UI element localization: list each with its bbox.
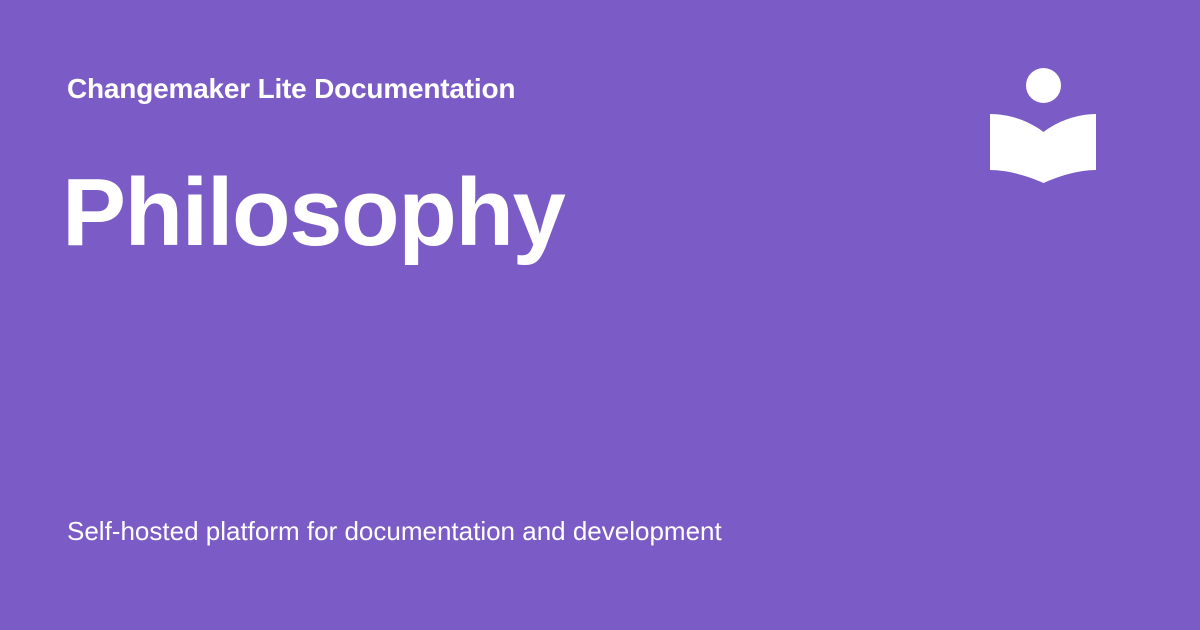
- site-title: Changemaker Lite Documentation: [67, 72, 515, 106]
- text-content-block: Changemaker Lite Documentation Philosoph…: [67, 0, 967, 630]
- open-book-reader-icon: [980, 58, 1110, 198]
- og-preview-card: Changemaker Lite Documentation Philosoph…: [0, 0, 1200, 630]
- logo: [980, 58, 1110, 198]
- tagline: Self-hosted platform for documentation a…: [67, 514, 722, 548]
- page-title: Philosophy: [62, 158, 564, 268]
